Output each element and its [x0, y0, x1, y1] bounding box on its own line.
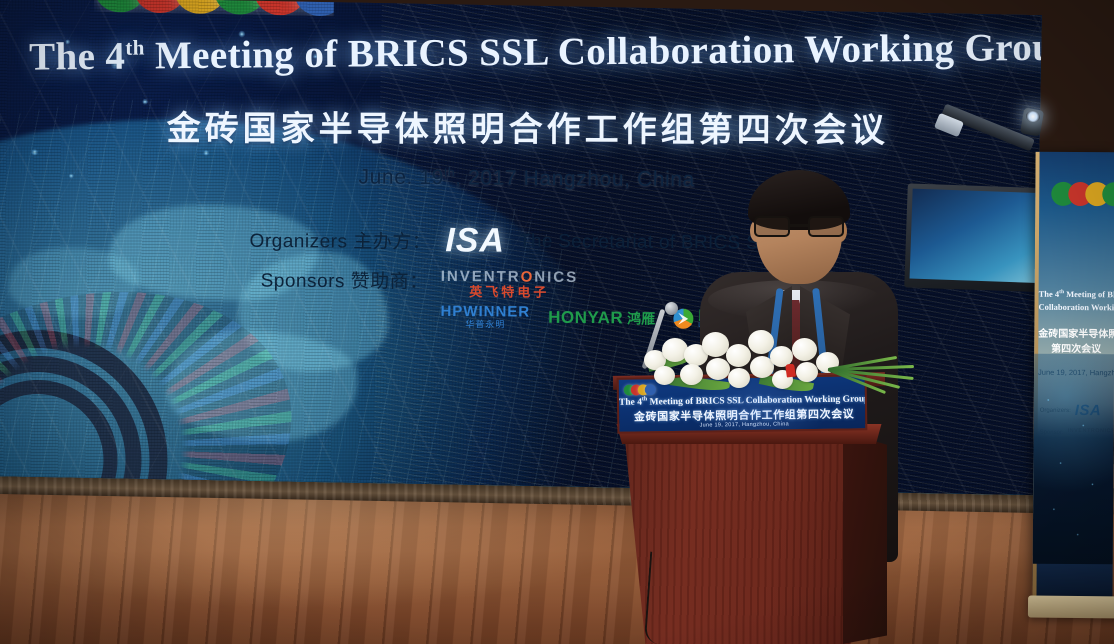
conference-stage-photo: The 4th Meeting of BRICS SSL Collaborati…	[0, 0, 1114, 644]
screen-title-english: The 4th Meeting of BRICS SSL Collaborati…	[29, 25, 1029, 80]
screen-title-chinese: 金砖国家半导体照明合作工作组第四次会议	[28, 100, 1028, 152]
banner-title-english: The 4th Meeting of BRICS SSLCollaboratio…	[1038, 288, 1114, 314]
inventronics-logo-cn: 英飞特电子	[469, 285, 549, 299]
isa-logo: ISA	[445, 221, 505, 260]
organizers-label: Organizers 主办方：	[249, 226, 431, 254]
rollup-banner: The 4th Meeting of BRICS SSLCollaboratio…	[1032, 152, 1114, 605]
banner-stand-base	[1028, 595, 1114, 618]
sponsors-label: Sponsors 赞助商：	[261, 265, 429, 293]
hpwinner-logo: HPWINNER 华普永明	[440, 304, 530, 330]
microphone-head-icon	[665, 302, 678, 315]
speaker-glasses-icon	[752, 216, 848, 238]
palm-frond	[828, 352, 914, 386]
podium-lectern: The 4th Meeting of BRICS SSL Collaborati…	[595, 352, 895, 644]
inventronics-logo: INVENTRONICS 英飞特电子	[441, 269, 579, 299]
banner-world-map-graphic	[1033, 354, 1114, 565]
banner-brics-rings-icon	[1051, 182, 1114, 207]
red-accent-flower	[785, 363, 796, 377]
floral-arrangement	[640, 322, 910, 392]
